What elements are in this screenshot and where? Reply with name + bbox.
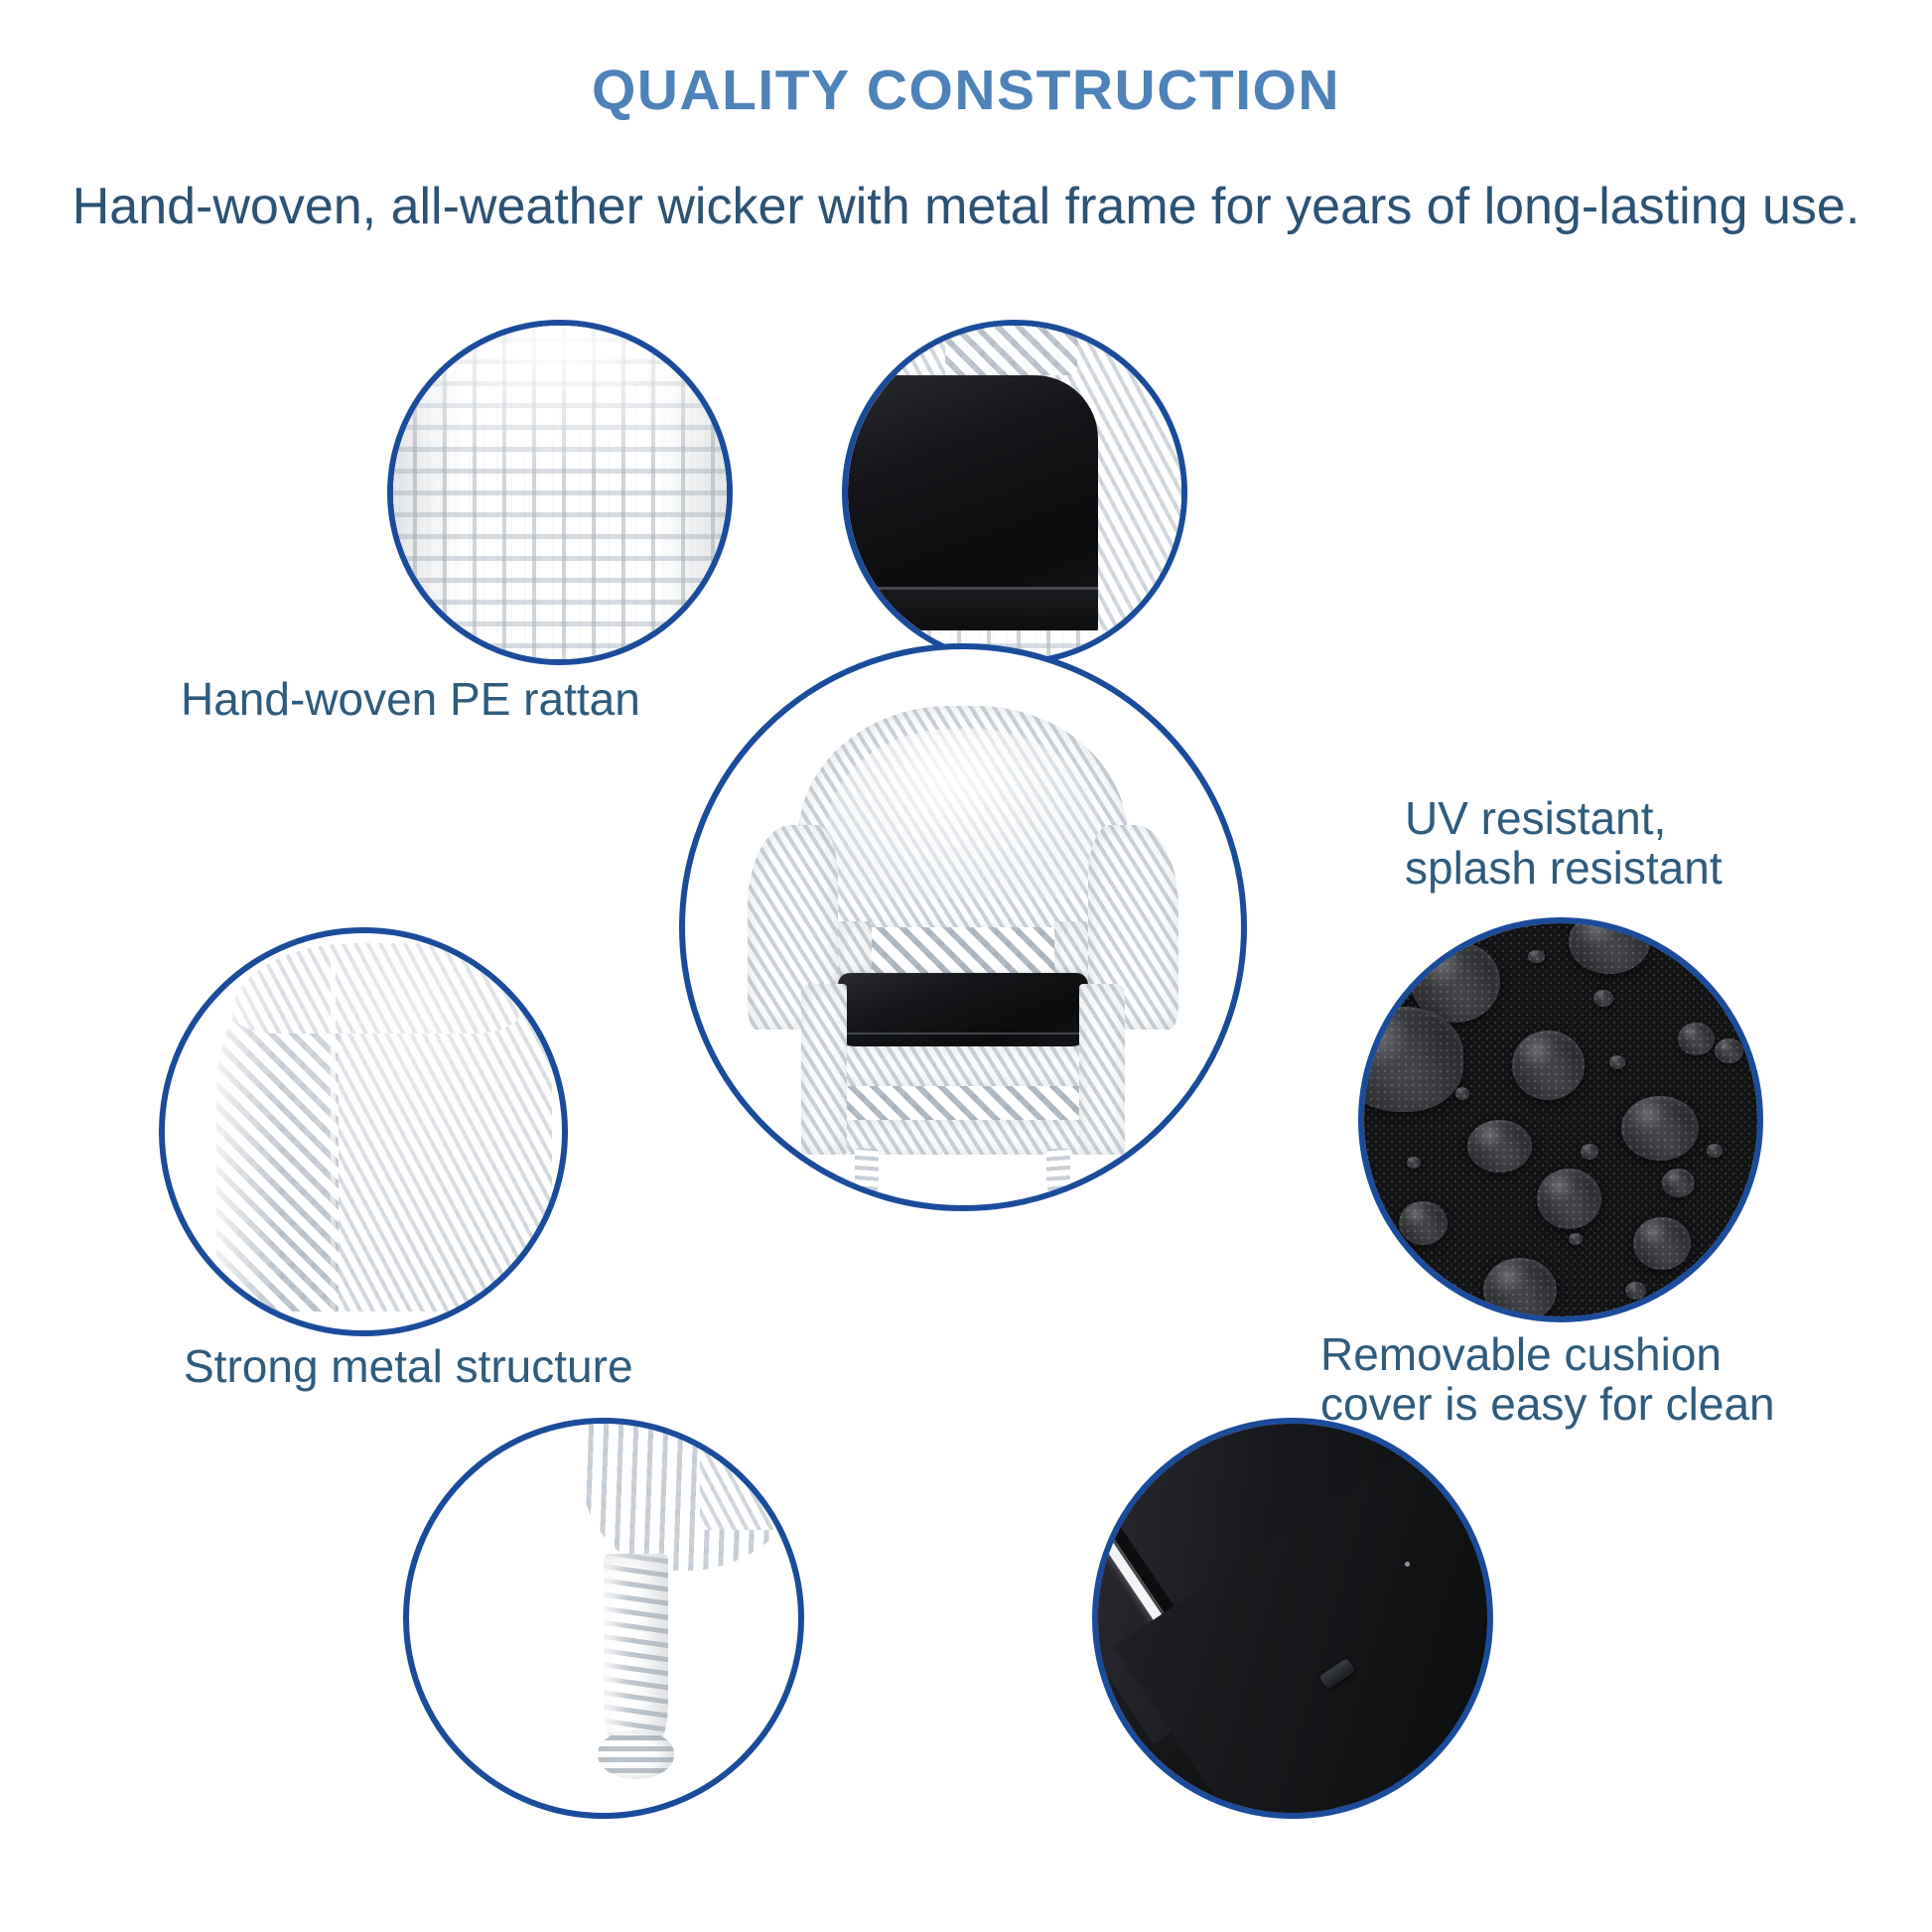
feature-circle-hand-woven-pe-rattan <box>387 320 733 665</box>
cushion-zipper-photo <box>1092 1418 1493 1819</box>
feature-circle-strong-metal-structure <box>159 927 568 1336</box>
rattan-weave-photo <box>387 320 733 665</box>
chair-leg-photo <box>403 1418 804 1819</box>
feature-circle-full-chair <box>679 643 1247 1211</box>
cushion-on-wicker-photo <box>842 320 1187 665</box>
caption-removable-cushion-cover: Removable cushion cover is easy for clea… <box>1320 1330 1837 1429</box>
feature-circle-removable-cushion-cover <box>1092 1418 1493 1819</box>
caption-strong-metal-structure: Strong metal structure <box>184 1342 779 1392</box>
feature-circle-uv-splash-resistant <box>842 320 1187 665</box>
caption-uv-splash-resistant: UV resistant, splash resistant <box>1405 794 1832 893</box>
water-droplets-photo <box>1358 917 1763 1322</box>
wicker-armchair-photo <box>679 643 1247 1211</box>
page-subtitle: Hand-woven, all-weather wicker with meta… <box>0 177 1932 236</box>
page-title: QUALITY CONSTRUCTION <box>0 58 1932 123</box>
caption-hand-woven-pe-rattan: Hand-woven PE rattan <box>181 675 737 725</box>
feature-circle-water-repellent-fabric <box>1358 917 1763 1322</box>
feature-circle-chair-leg <box>403 1418 804 1819</box>
wicker-corner-photo <box>159 927 568 1336</box>
